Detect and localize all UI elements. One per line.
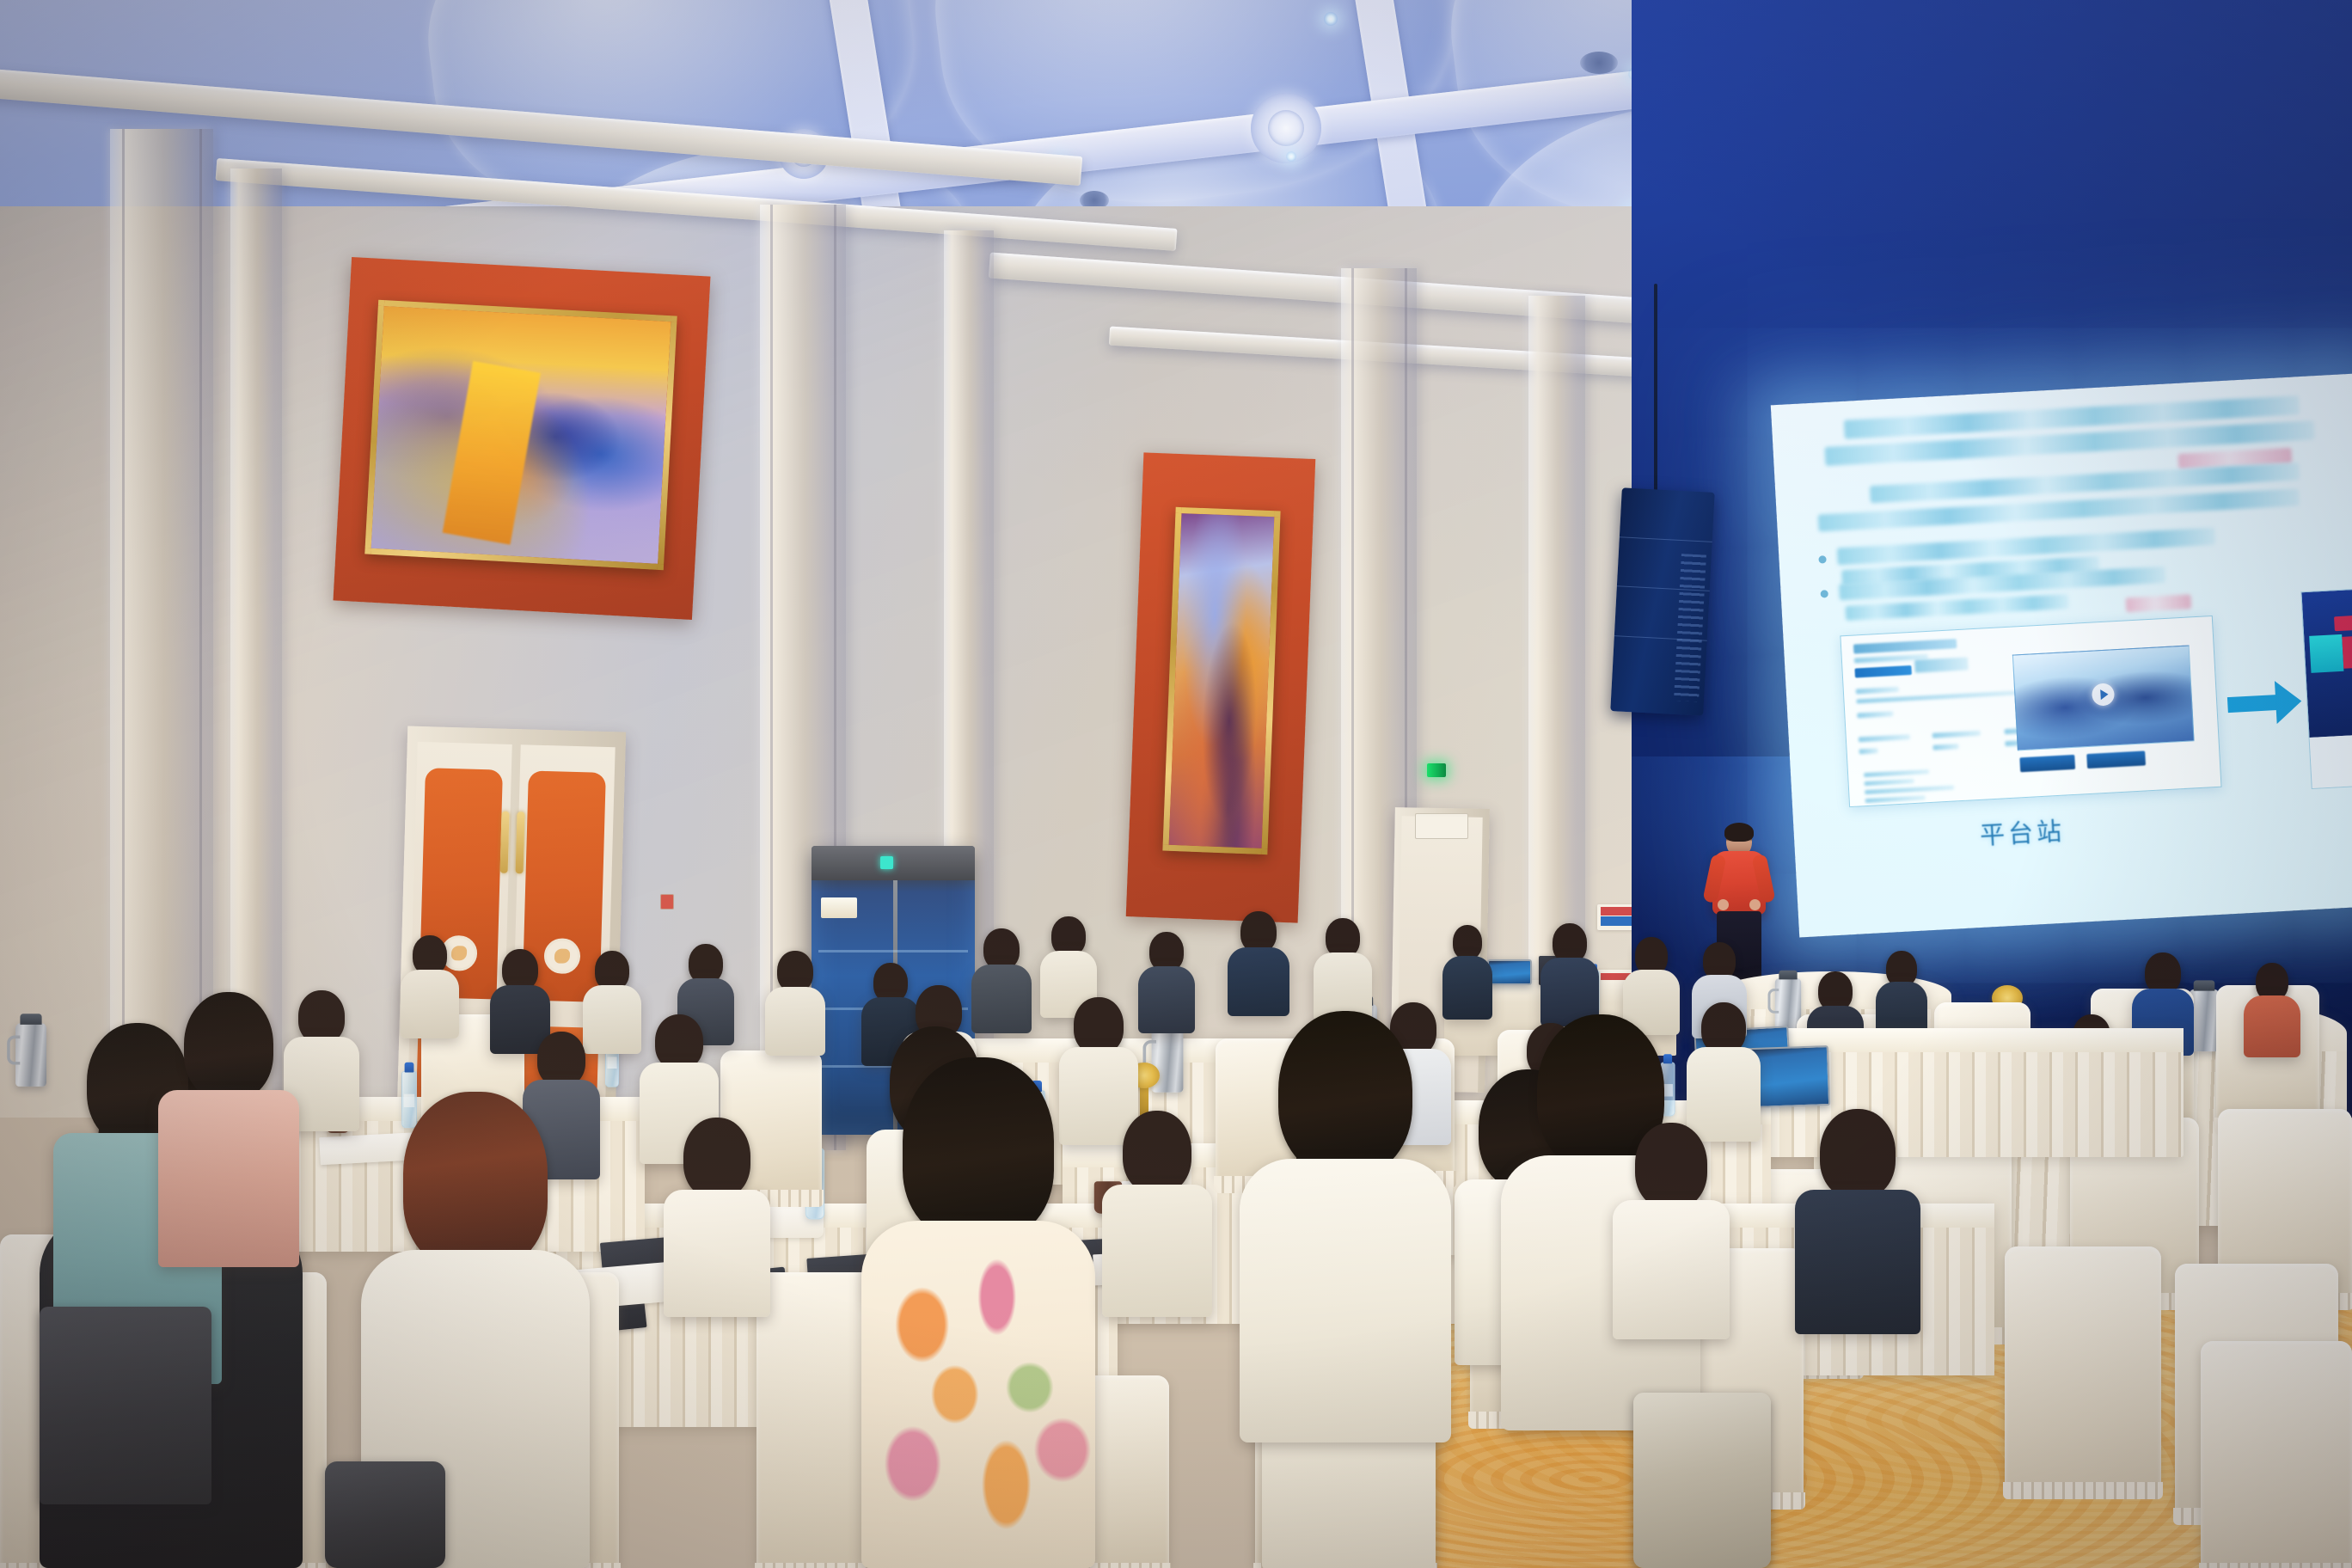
abstract-figure-painting	[1162, 507, 1280, 854]
attendee	[399, 935, 461, 1037]
attendee	[662, 1118, 772, 1315]
attendee	[2242, 963, 2302, 1057]
conference-hall-photo: 平台站	[0, 0, 2352, 1568]
card-bullet	[1865, 785, 1954, 794]
attendee	[763, 951, 827, 1054]
card-badge	[1854, 665, 1911, 678]
slide-caption: 平台站	[1979, 812, 2066, 852]
webpage-mockup-card	[1840, 616, 2221, 807]
projection-screen: 平台站	[1771, 373, 2352, 938]
banquet-chair[interactable]	[2005, 1246, 2161, 1487]
flow-arrow-right-icon	[2226, 680, 2303, 727]
emergency-exit-sign	[1427, 763, 1446, 777]
card-bullet	[1865, 779, 1914, 786]
attendee	[156, 992, 301, 1267]
attendee	[1874, 951, 1929, 1037]
attendee	[860, 1057, 1097, 1568]
video-thumbnail[interactable]	[2012, 645, 2195, 750]
wall-notice	[1415, 813, 1468, 839]
handbag	[325, 1461, 445, 1568]
banquet-chair[interactable]	[2201, 1341, 2352, 1568]
card-badge-fill	[1914, 657, 1969, 672]
attendee	[1136, 932, 1197, 1032]
card-bullet	[1864, 769, 1929, 777]
card-data-col	[1859, 734, 1910, 742]
card-data-col	[1932, 731, 1981, 738]
backpack	[40, 1307, 211, 1504]
attendee	[1100, 1111, 1214, 1315]
slide-bullet-marker	[1818, 555, 1826, 563]
attendee	[1793, 1109, 1922, 1332]
mobile-app-screenshot	[2300, 585, 2352, 789]
fire-alarm-plate	[660, 894, 674, 910]
floral-jacket	[861, 1221, 1095, 1568]
app-promo-banner	[2343, 633, 2352, 669]
slide-bullet-marker	[1820, 590, 1828, 597]
tote-bag	[1633, 1393, 1771, 1568]
wall-pilaster	[110, 129, 213, 1135]
cooler-status-led	[880, 856, 893, 869]
ceiling-downlight	[1324, 12, 1338, 26]
speaker-suspension-cable	[1654, 284, 1657, 499]
attendee	[970, 928, 1033, 1032]
cooler-label	[821, 897, 857, 918]
app-badge	[2334, 616, 2352, 632]
abstract-landscape-painting	[364, 300, 677, 570]
card-title	[1853, 639, 1957, 653]
attendee	[1539, 923, 1601, 1025]
attendee	[1238, 1011, 1453, 1441]
secondary-cta-button[interactable]	[2086, 750, 2146, 769]
projection-slide: 平台站	[1771, 373, 2352, 938]
ceiling-downlight	[1286, 151, 1296, 162]
play-icon[interactable]	[2092, 683, 2115, 706]
app-cyan-badge	[2309, 634, 2344, 673]
attendee	[1226, 911, 1291, 1014]
attendee	[1611, 1123, 1731, 1338]
line-array-speaker	[1610, 487, 1714, 715]
primary-cta-button[interactable]	[2019, 755, 2075, 772]
presenter-hair	[1724, 823, 1754, 842]
attendee	[1312, 918, 1374, 1020]
card-bullet	[1865, 795, 1926, 803]
